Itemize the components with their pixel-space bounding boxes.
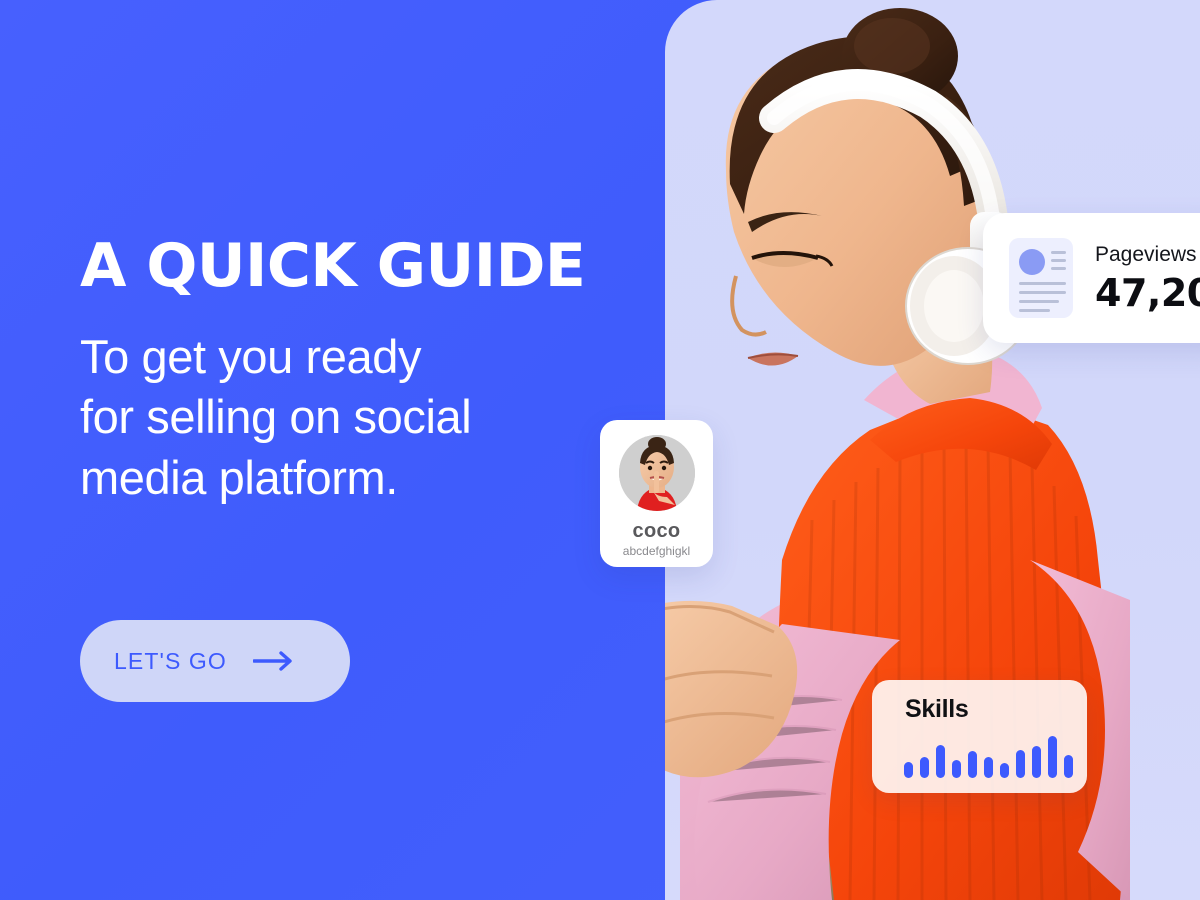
profile-handle: abcdefghigkl [600,544,713,558]
profile-name: coco [600,520,713,543]
hero-copy: A QUICK GUIDE To get you ready for selli… [80,236,640,508]
skills-title: Skills [872,680,1087,724]
skills-bar [936,745,945,778]
promo-banner: A QUICK GUIDE To get you ready for selli… [0,0,1200,900]
pageviews-value: 47,20 [1095,271,1200,315]
skills-bar [1048,736,1057,778]
document-profile-icon [1009,238,1073,318]
skills-card[interactable]: Skills [872,680,1087,793]
skills-bar [952,760,961,778]
arrow-right-icon [253,651,297,671]
lets-go-button[interactable]: LET'S GO [80,620,350,702]
skills-bar [1032,746,1041,778]
subheadline-line-3: media platform. [80,448,640,508]
skills-bar [968,751,977,778]
skills-bar [920,757,929,778]
skills-bar [984,757,993,778]
skills-bar [904,762,913,778]
pageviews-card[interactable]: Pageviews 47,20 [983,213,1200,343]
subheadline-line-2: for selling on social [80,387,640,447]
lets-go-button-label: LET'S GO [114,648,227,675]
skills-bar-chart [872,724,1087,778]
avatar [619,435,695,511]
subheadline-line-1: To get you ready [80,327,640,387]
subheadline: To get you ready for selling on social m… [80,297,640,507]
skills-bar [1016,750,1025,778]
profile-card[interactable]: coco abcdefghigkl [600,420,713,567]
pageviews-label: Pageviews [1095,243,1200,267]
skills-bar [1000,763,1009,778]
page-title: A QUICK GUIDE [80,236,640,297]
skills-bar [1064,755,1073,778]
